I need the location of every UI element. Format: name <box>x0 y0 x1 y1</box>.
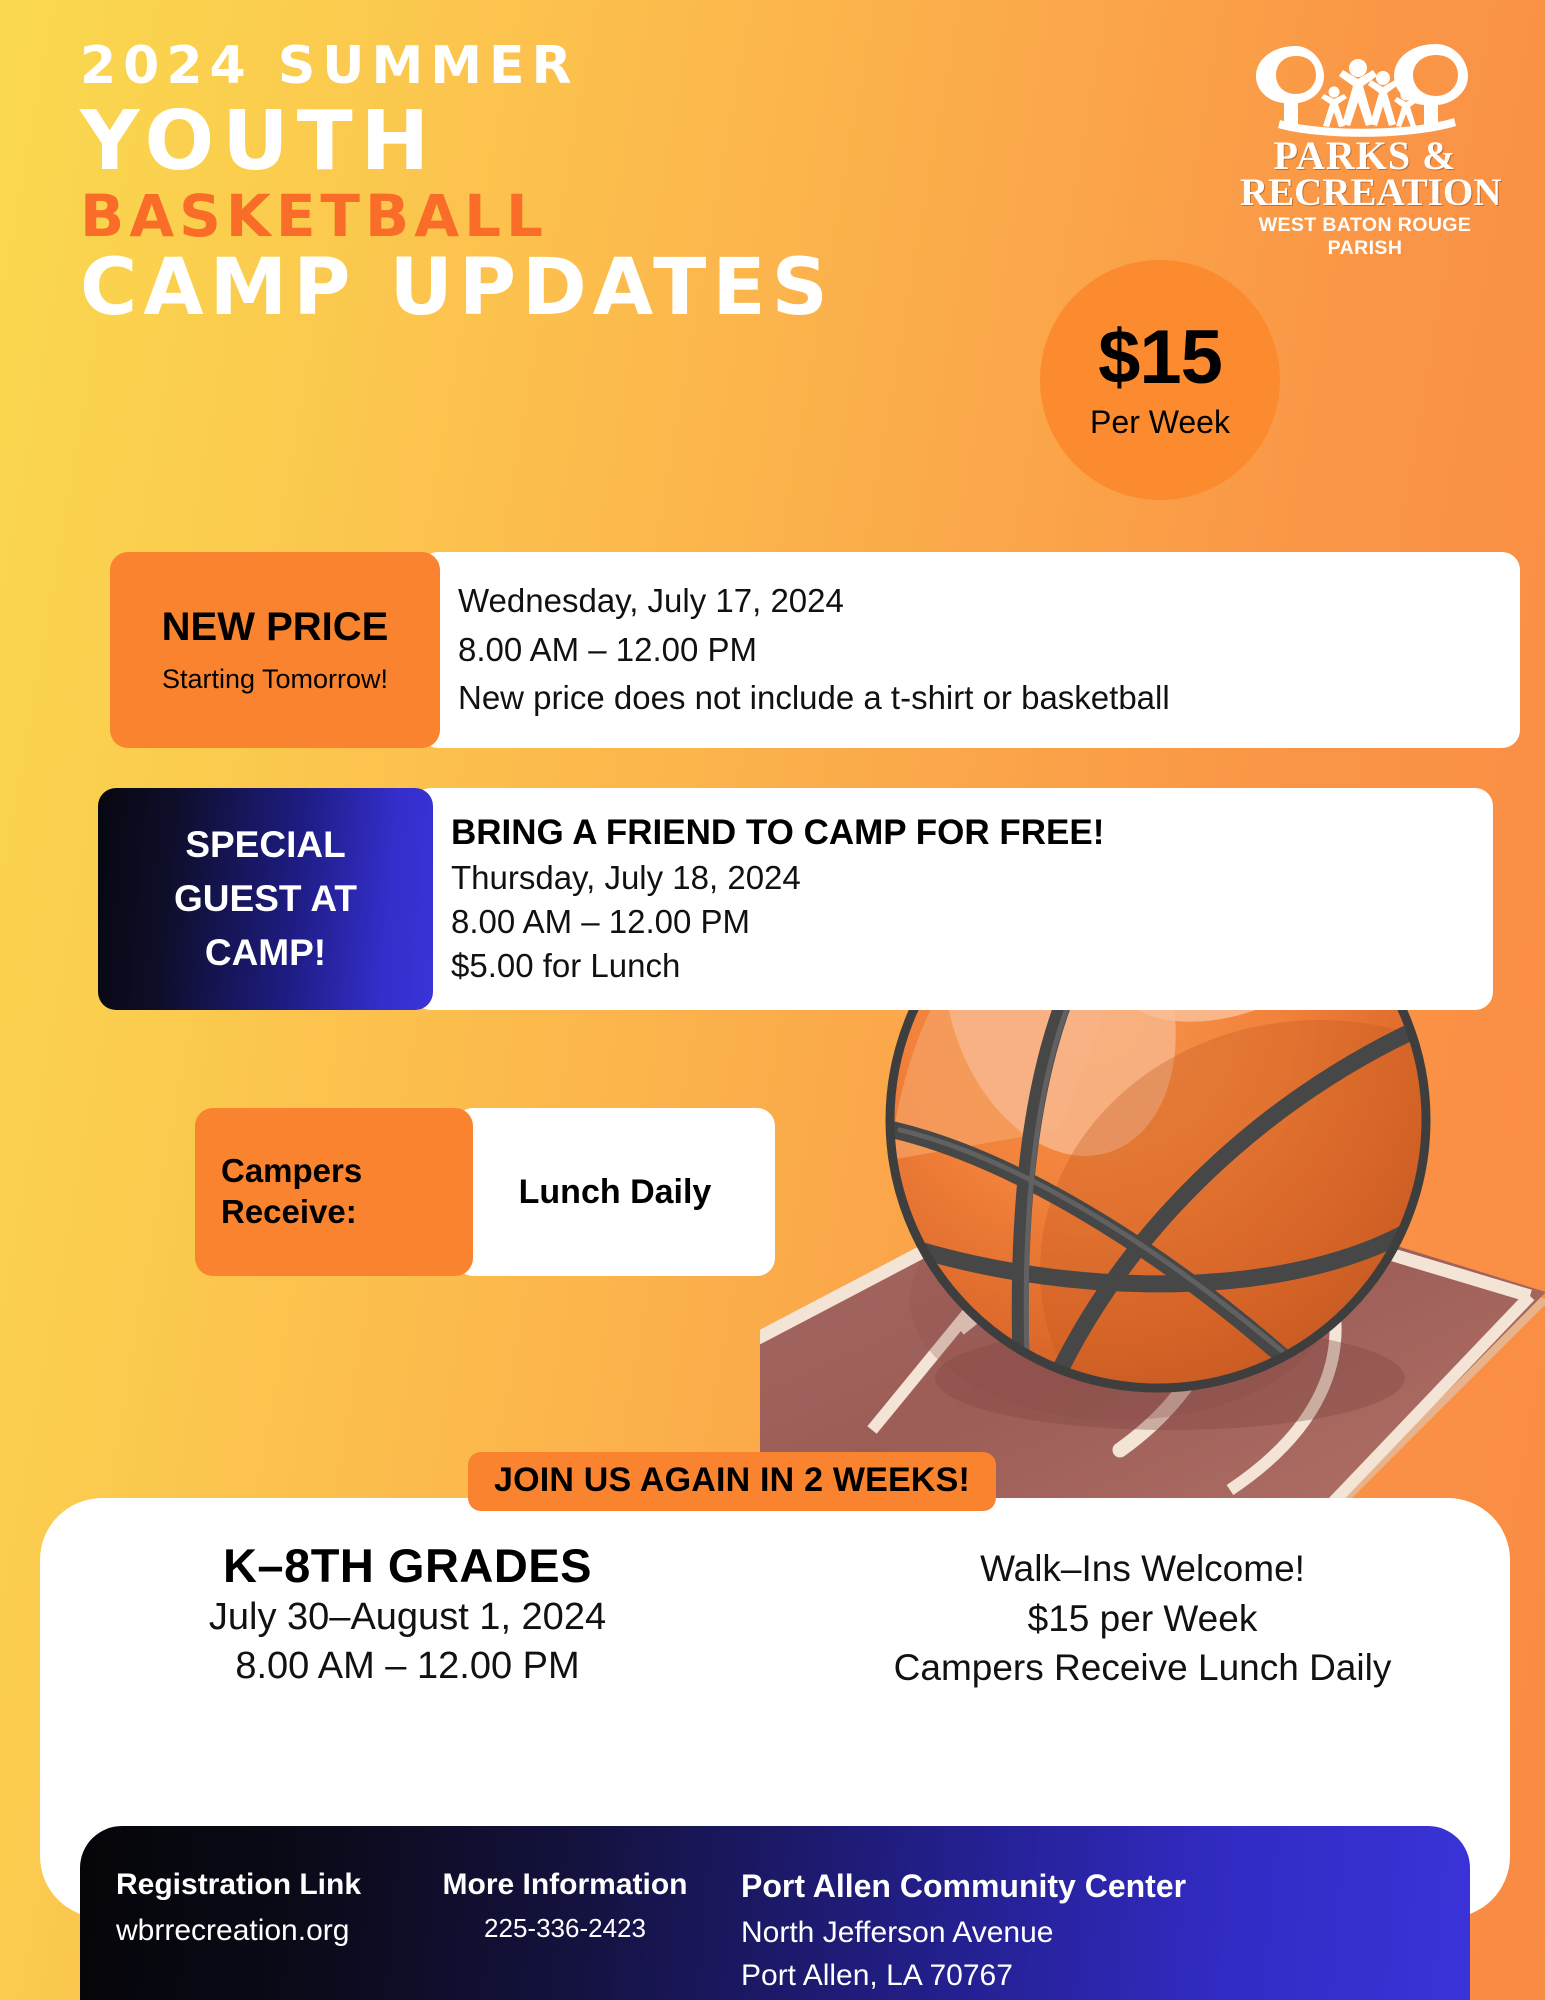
price-badge: $15 Per Week <box>1040 260 1280 500</box>
flyer-root: 2024 SUMMER YOUTH BASKETBALL CAMP UPDATE… <box>0 0 1545 2000</box>
title-line-updates: CAMP UPDATES <box>80 249 834 327</box>
walk-ins-note: Walk–Ins Welcome! <box>775 1544 1510 1594</box>
new-price-tag: NEW PRICE Starting Tomorrow! <box>110 552 440 748</box>
venue-citystate: Port Allen, LA 70767 <box>741 1955 1470 1998</box>
row-new-price: NEW PRICE Starting Tomorrow! Wednesday, … <box>110 552 1520 748</box>
campers-receive-tag-line2: Receive: <box>221 1192 357 1233</box>
contact-footer: Registration Link wbrrecreation.org More… <box>80 1826 1470 2000</box>
title-line-year: 2024 SUMMER <box>80 40 834 92</box>
venue-street: North Jefferson Avenue <box>741 1912 1470 1955</box>
venue-name: Port Allen Community Center <box>741 1866 1470 1906</box>
bring-a-friend-headline: BRING A FRIEND TO CAMP FOR FREE! <box>451 810 1493 856</box>
new-price-panel: Wednesday, July 17, 2024 8.00 AM – 12.00… <box>420 552 1520 748</box>
special-guest-tag-line1: SPECIAL <box>185 818 345 872</box>
campers-receive-value: Lunch Daily <box>519 1173 712 1212</box>
next-session-time: 8.00 AM – 12.00 PM <box>40 1642 775 1691</box>
logo-parks-text: PARKS & <box>1240 138 1490 175</box>
row-campers-receive: Campers Receive: Lunch Daily <box>195 1108 775 1276</box>
row-special-guest: SPECIAL GUEST AT CAMP! BRING A FRIEND TO… <box>98 788 1493 1010</box>
special-guest-date: Thursday, July 18, 2024 <box>451 856 1493 900</box>
weekly-price: $15 per Week <box>775 1594 1510 1644</box>
new-price-note: New price does not include a t-shirt or … <box>458 674 1520 723</box>
join-us-again-badge: JOIN US AGAIN IN 2 WEEKS! <box>468 1452 996 1511</box>
price-period: Per Week <box>1090 404 1230 441</box>
new-price-time: 8.00 AM – 12.00 PM <box>458 626 1520 675</box>
price-amount: $15 <box>1098 320 1222 396</box>
trees-and-family-icon <box>1250 40 1480 138</box>
registration-heading: Registration Link <box>116 1866 415 1904</box>
grades-heading: K–8TH GRADES <box>40 1540 775 1593</box>
title-line-youth: YOUTH <box>80 101 834 183</box>
campers-receive-tag-line1: Campers <box>221 1151 362 1192</box>
title-line-sport: BASKETBALL <box>80 187 834 245</box>
footer-registration-column: Registration Link wbrrecreation.org <box>80 1866 415 2000</box>
campers-receive-tag: Campers Receive: <box>195 1108 473 1276</box>
special-guest-tag-line2: GUEST AT <box>174 872 357 926</box>
special-guest-lunch: $5.00 for Lunch <box>451 944 1493 988</box>
new-price-tag-subtitle: Starting Tomorrow! <box>162 665 388 695</box>
next-session-dates: July 30–August 1, 2024 <box>40 1593 775 1642</box>
logo-parish-text: WEST BATON ROUGE PARISH <box>1240 214 1490 260</box>
new-price-date: Wednesday, July 17, 2024 <box>458 577 1520 626</box>
logo-rec-text: RECREATION <box>1240 175 1490 211</box>
new-price-tag-title: NEW PRICE <box>162 605 389 649</box>
more-information-heading: More Information <box>415 1866 715 1904</box>
footer-info-column: More Information 225-336-2423 <box>415 1866 715 2000</box>
page-title: 2024 SUMMER YOUTH BASKETBALL CAMP UPDATE… <box>80 40 834 327</box>
special-guest-tag: SPECIAL GUEST AT CAMP! <box>98 788 433 1010</box>
special-guest-time: 8.00 AM – 12.00 PM <box>451 900 1493 944</box>
special-guest-panel: BRING A FRIEND TO CAMP FOR FREE! Thursda… <box>413 788 1493 1010</box>
footer-location-column: Port Allen Community Center North Jeffer… <box>715 1866 1470 2000</box>
parks-recreation-logo: PARKS & RECREATION WEST BATON ROUGE PARI… <box>1240 40 1490 240</box>
campers-receive-panel: Lunch Daily <box>455 1108 775 1276</box>
special-guest-tag-line3: CAMP! <box>205 926 326 980</box>
phone-number[interactable]: 225-336-2423 <box>415 1912 715 1945</box>
lunch-note: Campers Receive Lunch Daily <box>775 1643 1510 1693</box>
registration-link[interactable]: wbrrecreation.org <box>116 1912 415 1950</box>
